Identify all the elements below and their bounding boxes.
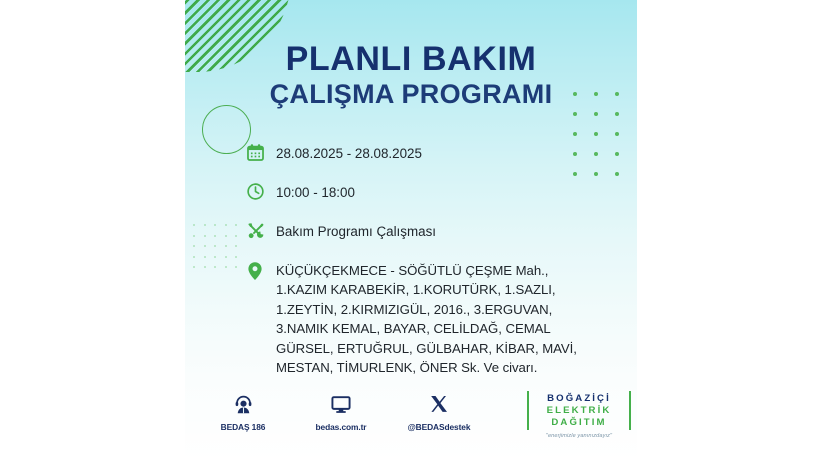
logo-line-1: BOĞAZİÇİ [534, 393, 624, 405]
map-pin-icon [246, 259, 276, 285]
calendar-icon [246, 142, 276, 167]
contact-phone[interactable]: BEDAŞ 186 [207, 391, 279, 432]
address-line: MESTAN, TİMURLENK, ÖNER Sk. Ve civarı. [276, 360, 537, 375]
date-range-value: 28.08.2025 - 28.08.2025 [276, 142, 422, 163]
bedas-logo: BOĞAZİÇİ ELEKTRİK DAĞITIM "enerjimizle y… [527, 391, 631, 439]
circle-outline-decoration [202, 105, 251, 154]
logo-line-3: DAĞITIM [534, 417, 624, 429]
support-agent-icon [207, 391, 279, 417]
address-value: KÜÇÜKÇEKMECE - SÖĞÜTLÜ ÇEŞME Mah., 1.KAZ… [276, 259, 577, 377]
dot-grid-left-decoration [193, 224, 239, 270]
logo-frame: BOĞAZİÇİ ELEKTRİK DAĞITIM [527, 391, 631, 430]
contact-social-label: @BEDASdestek [403, 422, 475, 432]
info-list: 28.08.2025 - 28.08.2025 10:00 - 18:00 [246, 142, 606, 377]
info-row-date: 28.08.2025 - 28.08.2025 [246, 142, 606, 167]
logo-tagline: "enerjimizle yanınızdayız" [527, 433, 631, 439]
contact-phone-label: BEDAŞ 186 [207, 422, 279, 432]
address-line: KÜÇÜKÇEKMECE - SÖĞÜTLÜ ÇEŞME Mah., [276, 263, 548, 278]
info-row-time: 10:00 - 18:00 [246, 181, 606, 206]
address-line: 1.ZEYTİN, 2.KIRMIZIGÜL, 2016., 3.ERGUVAN… [276, 302, 552, 317]
announcement-card: PLANLI BAKIM ÇALIŞMA PROGRAMI [185, 0, 637, 461]
address-line: 1.KAZIM KARABEKİR, 1.KORUTÜRK, 1.SAZLI, [276, 282, 555, 297]
address-line: 3.NAMIK KEMAL, BAYAR, CELİLDAĞ, CEMAL [276, 321, 551, 336]
poster-screenshot: PLANLI BAKIM ÇALIŞMA PROGRAMI [0, 0, 820, 461]
info-row-work: Bakım Programı Çalışması [246, 220, 606, 245]
time-range-value: 10:00 - 18:00 [276, 181, 355, 202]
logo-line-2: ELEKTRİK [534, 405, 624, 417]
page-subtitle: ÇALIŞMA PROGRAMI [185, 79, 637, 109]
x-social-icon [403, 391, 475, 417]
work-type-value: Bakım Programı Çalışması [276, 220, 436, 241]
page-title: PLANLI BAKIM [185, 42, 637, 77]
poster-footer: BEDAŞ 186 bedas.com.tr [185, 391, 637, 447]
monitor-icon [305, 391, 377, 417]
address-line: GÜRSEL, ERTUĞRUL, GÜLBAHAR, KİBAR, MAVİ, [276, 341, 577, 356]
poster-title-block: PLANLI BAKIM ÇALIŞMA PROGRAMI [185, 42, 637, 110]
tools-icon [246, 220, 276, 245]
contact-list: BEDAŞ 186 bedas.com.tr [207, 391, 475, 432]
info-row-address: KÜÇÜKÇEKMECE - SÖĞÜTLÜ ÇEŞME Mah., 1.KAZ… [246, 259, 606, 377]
clock-icon [246, 181, 276, 206]
contact-website-label: bedas.com.tr [305, 422, 377, 432]
contact-website[interactable]: bedas.com.tr [305, 391, 377, 432]
contact-social[interactable]: @BEDASdestek [403, 391, 475, 432]
